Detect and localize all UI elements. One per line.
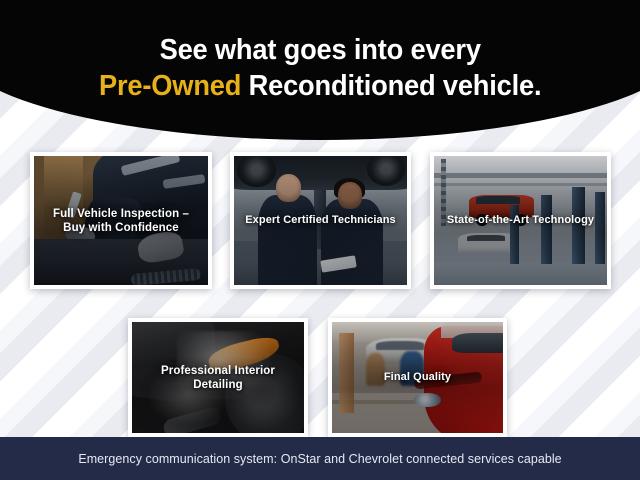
caption-line-1: Expert Certified Technicians (245, 214, 396, 226)
card-caption: Professional Interior Detailing (132, 363, 304, 392)
card-state-of-the-art-technology[interactable]: State-of-the-Art Technology (430, 152, 611, 289)
caption-line-1: State-of-the-Art Technology (447, 214, 594, 226)
footer-bar: Emergency communication system: OnStar a… (0, 437, 640, 480)
headline-line-2-rest: Reconditioned vehicle. (241, 70, 541, 102)
card-expert-certified-technicians[interactable]: Expert Certified Technicians (230, 152, 411, 289)
page-title: See what goes into every Pre-Owned Recon… (0, 33, 640, 104)
card-professional-interior-detailing[interactable]: Professional Interior Detailing (128, 318, 308, 437)
infographic-canvas: See what goes into every Pre-Owned Recon… (0, 0, 640, 480)
caption-line-1: Full Vehicle Inspection – (53, 207, 189, 219)
headline-accent: Pre-Owned (99, 70, 241, 102)
card-caption: Expert Certified Technicians (234, 214, 407, 228)
card-full-vehicle-inspection[interactable]: Full Vehicle Inspection – Buy with Confi… (30, 152, 212, 289)
card-caption: State-of-the-Art Technology (434, 214, 607, 228)
headline-line-1: See what goes into every (159, 34, 480, 66)
caption-line-1: Professional Interior (161, 364, 275, 376)
headline-line-2: Pre-Owned Reconditioned vehicle. (0, 69, 640, 104)
card-final-quality[interactable]: Final Quality (328, 318, 507, 437)
card-caption: Full Vehicle Inspection – Buy with Confi… (34, 206, 208, 235)
header-banner: See what goes into every Pre-Owned Recon… (0, 0, 640, 140)
header-content: See what goes into every Pre-Owned Recon… (0, 33, 640, 104)
footer-disclaimer-text: Emergency communication system: OnStar a… (78, 452, 561, 466)
caption-line-1: Final Quality (384, 371, 451, 383)
caption-line-2: Buy with Confidence (63, 222, 179, 234)
card-caption: Final Quality (332, 371, 503, 385)
caption-line-2: Detailing (193, 379, 242, 391)
